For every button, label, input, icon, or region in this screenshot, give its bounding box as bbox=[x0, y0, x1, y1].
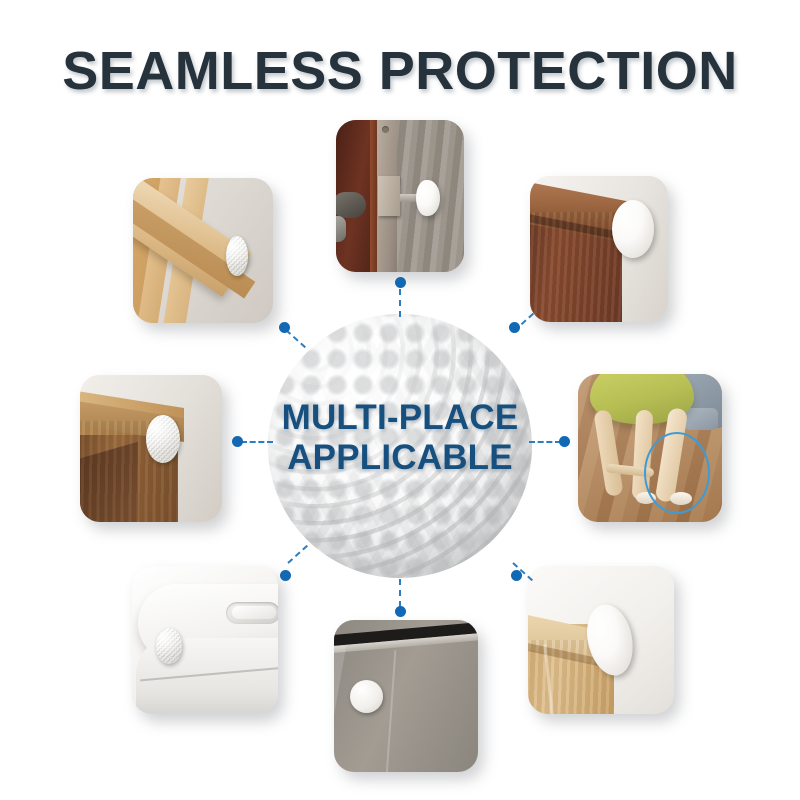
photo-refrigerator-door bbox=[334, 620, 478, 772]
bumper-pad bbox=[226, 236, 248, 276]
photo-stool-leg bbox=[578, 374, 722, 522]
photo-oak-furniture-edge bbox=[80, 375, 222, 522]
bumper-pad bbox=[146, 415, 180, 463]
bumper-pad bbox=[612, 200, 654, 258]
tile-walnut-cabinet-corner[interactable] bbox=[530, 176, 668, 322]
center-label: MULTI-PLACE APPLICABLE bbox=[230, 398, 570, 478]
photo-door-stop bbox=[336, 120, 464, 272]
highlight-circle bbox=[644, 432, 710, 514]
tile-stool-leg[interactable] bbox=[578, 374, 722, 522]
photo-chair-back bbox=[133, 178, 273, 323]
tile-chair-back[interactable] bbox=[133, 178, 273, 323]
bumper-pad bbox=[350, 680, 383, 713]
tile-oak-furniture-edge[interactable] bbox=[80, 375, 222, 522]
page-title: SEAMLESS PROTECTION bbox=[0, 40, 800, 102]
tile-door-stop[interactable] bbox=[336, 120, 464, 272]
tile-refrigerator-door[interactable] bbox=[334, 620, 478, 772]
product-infographic: SEAMLESS PROTECTION bbox=[0, 0, 800, 800]
bumper-pad bbox=[156, 628, 182, 664]
center-label-line2: APPLICABLE bbox=[230, 438, 570, 478]
photo-toilet-tank-lid bbox=[132, 566, 278, 714]
door-stop-cap bbox=[416, 180, 440, 216]
tile-light-oak-corner[interactable] bbox=[528, 566, 674, 714]
tile-toilet-tank-lid[interactable] bbox=[132, 566, 278, 714]
center-label-line1: MULTI-PLACE bbox=[230, 398, 570, 438]
photo-walnut-cabinet-corner bbox=[530, 176, 668, 322]
photo-light-oak-corner bbox=[528, 566, 674, 714]
